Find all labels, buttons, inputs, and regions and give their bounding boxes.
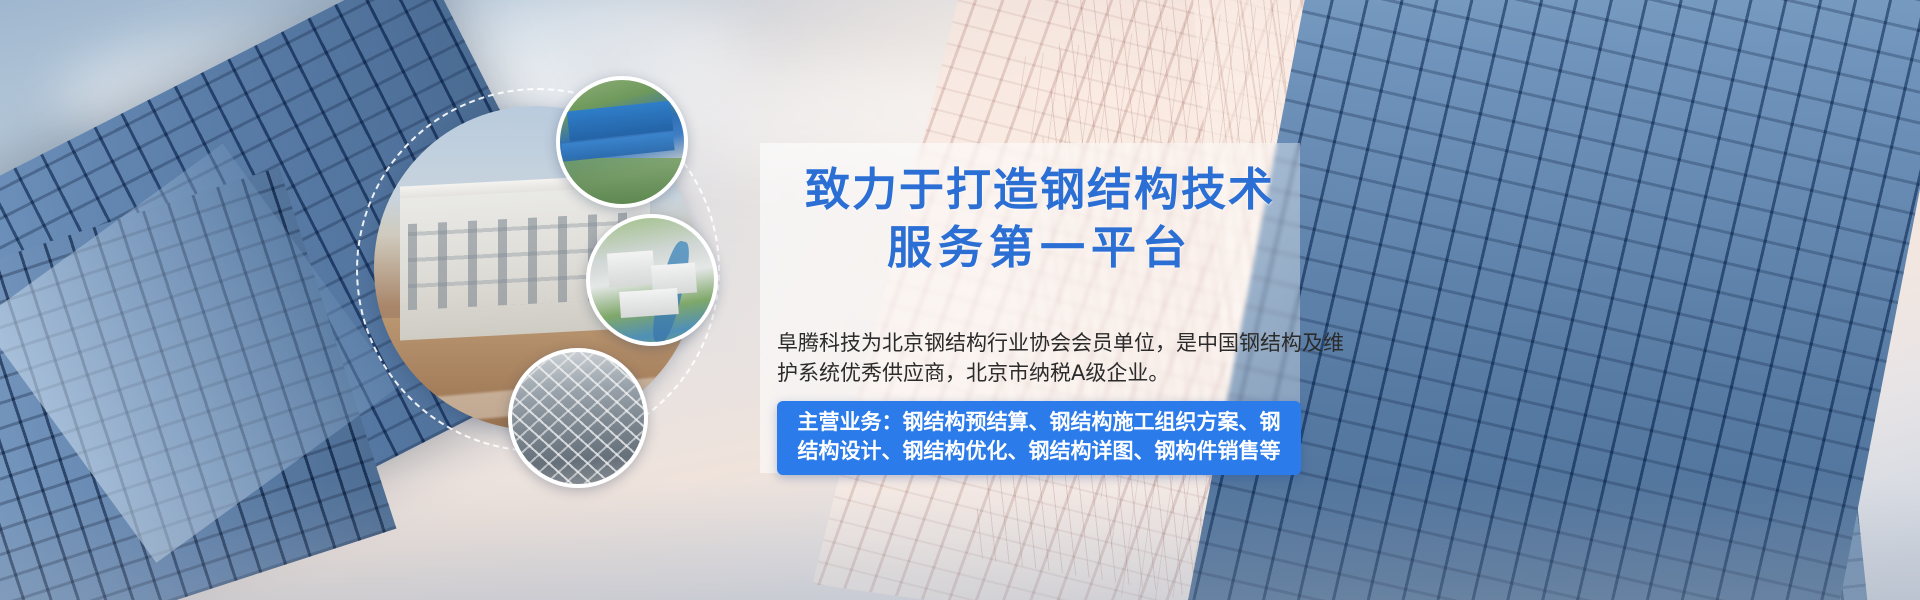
photo-campus-building (607, 250, 655, 287)
headline-line-1: 致力于打造钢结构技术 (760, 161, 1320, 219)
photo-campus-building (619, 288, 679, 318)
description-line-1: 阜腾科技为北京钢结构行业协会会员单位，是中国钢结构及维 (777, 328, 1305, 358)
page-title: 致力于打造钢结构技术 服务第一平台 (760, 161, 1320, 277)
hero-banner: 致力于打造钢结构技术 服务第一平台 阜腾科技为北京钢结构行业协会会员单位，是中国… (0, 0, 1920, 600)
text-content: 致力于打造钢结构技术 服务第一平台 阜腾科技为北京钢结构行业协会会员单位，是中国… (760, 143, 1320, 473)
services-callout-box: 主营业务：钢结构预结算、钢结构施工组织方案、钢 结构设计、钢结构优化、钢结构详图… (777, 401, 1301, 475)
description-line-2: 护系统优秀供应商，北京市纳税A级企业。 (777, 358, 1305, 388)
callout-line-2: 结构设计、钢结构优化、钢结构详图、钢构件销售等 (787, 437, 1291, 466)
photo-collage (350, 70, 770, 500)
callout-line-1: 主营业务：钢结构预结算、钢结构施工组织方案、钢 (787, 408, 1291, 437)
photo-greenery (560, 158, 684, 204)
description-paragraph: 阜腾科技为北京钢结构行业协会会员单位，是中国钢结构及维 护系统优秀供应商，北京市… (777, 328, 1305, 388)
photo-steel-lattice (512, 352, 644, 484)
thumb-photo-industrial-park (556, 76, 688, 208)
thumb-photo-aerial-campus (586, 214, 718, 346)
thumb-photo-space-frame (508, 348, 648, 488)
ground-haze (0, 480, 1920, 600)
headline-line-2: 服务第一平台 (760, 219, 1320, 277)
